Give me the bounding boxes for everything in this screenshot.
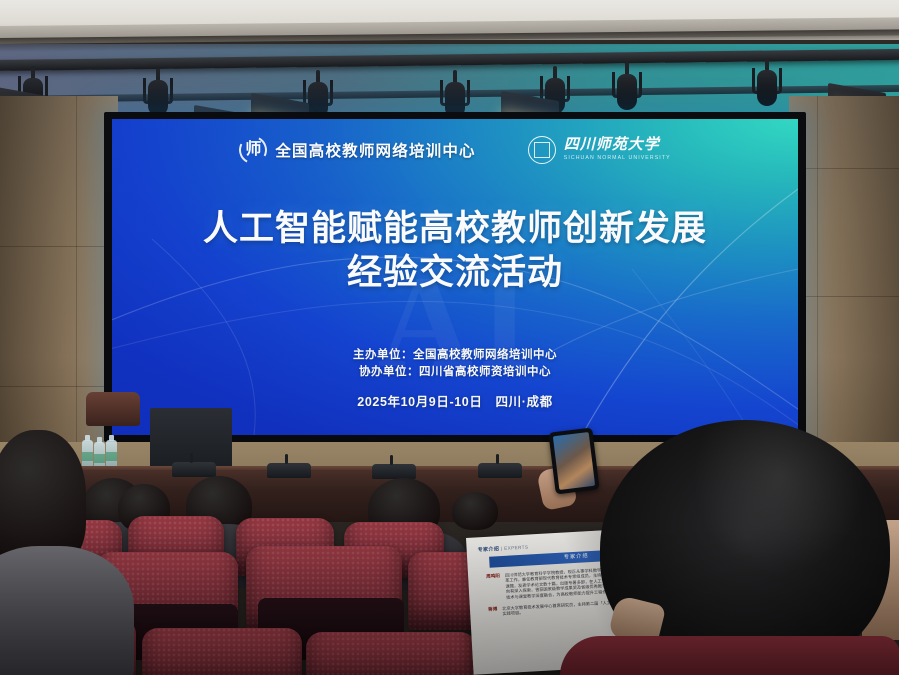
conference-photo-scene: AI 师 全国高校教师网络培训中心 四川师苑大学 SICHUAN NORMAL … (0, 0, 899, 675)
light-body (148, 80, 168, 116)
light-body (757, 70, 777, 106)
host-org-name: 全国高校教师网络培训中心 (275, 139, 475, 161)
stage-microphone (478, 463, 522, 478)
stage-microphone (172, 462, 216, 477)
host-org-logo-unit: 师 全国高校教师网络培训中心 (239, 136, 475, 164)
title-line-1: 人工智能赋能高校教师创新发展 (112, 207, 798, 251)
led-screen: AI 师 全国高校教师网络培训中心 四川师苑大学 SICHUAN NORMAL … (112, 119, 798, 435)
water-bottle (82, 440, 93, 468)
sichuan-normal-university-seal-icon (528, 136, 556, 164)
university-name-en: SICHUAN NORMAL UNIVERSITY (564, 156, 671, 161)
stage-microphone (267, 463, 311, 478)
theater-seat (306, 632, 476, 675)
teacher-network-training-center-logo-icon: 师 (239, 136, 267, 164)
university-name-block: 四川师苑大学 SICHUAN NORMAL UNIVERSITY (564, 138, 671, 161)
university-logo-unit: 四川师苑大学 SICHUAN NORMAL UNIVERSITY (528, 136, 671, 164)
screen-logo-row: 师 全国高校教师网络培训中心 四川师苑大学 SICHUAN NORMAL UNI… (112, 133, 798, 167)
theater-seat (142, 628, 302, 675)
stage-chair (86, 392, 140, 426)
led-screen-bezel: AI 师 全国高校教师网络培训中心 四川师苑大学 SICHUAN NORMAL … (104, 112, 806, 442)
light-body (617, 74, 637, 110)
audience-shoulders-foreground-left (0, 546, 134, 675)
smartphone-screen (553, 432, 595, 490)
screen-credits: 主办单位：全国高校教师网络培训中心 协办单位：四川省高校师资培训中心 2025年… (112, 347, 798, 410)
university-name-cn: 四川师苑大学 (564, 138, 671, 153)
screen-title: 人工智能赋能高校教师创新发展 经验交流活动 (112, 207, 798, 295)
water-bottle (106, 440, 117, 468)
audience-head (452, 492, 498, 530)
smartphone (548, 428, 599, 495)
foreground-seat-back (560, 636, 899, 675)
cohost-credit-line: 协办单位：四川省高校师资培训中心 (112, 364, 798, 381)
host-credit-line: 主办单位：全国高校教师网络培训中心 (112, 347, 798, 364)
stage-microphone (372, 464, 416, 479)
title-line-2: 经验交流活动 (112, 251, 798, 295)
